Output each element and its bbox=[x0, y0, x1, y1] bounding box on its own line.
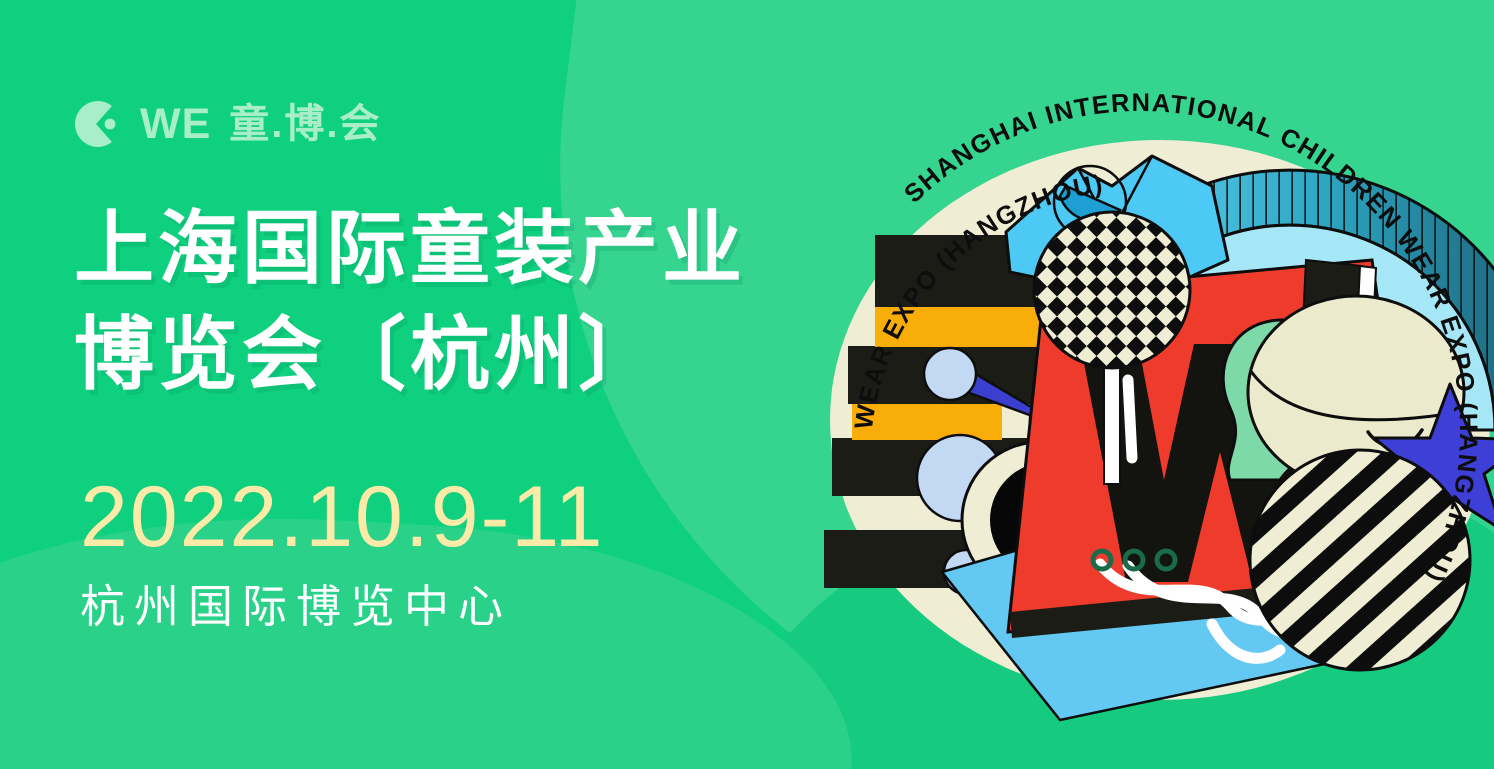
event-date: 2022.10.9-11 bbox=[80, 474, 605, 560]
event-venue: 杭州国际博览中心 bbox=[80, 580, 512, 634]
cwe-pacman-icon bbox=[74, 100, 126, 148]
brand-logo: WE 童.博.会 bbox=[74, 100, 382, 148]
children-wear-collage: SHANGHAI INTERNATIONAL CHILDREN WEAR EXP… bbox=[760, 0, 1494, 769]
logo-chinese: 童.博.会 bbox=[229, 104, 381, 144]
poster-canvas: WE 童.博.会 上海国际童装产业 博览会〔杭州〕 2022.10.9-11 杭… bbox=[0, 0, 1494, 769]
logo-wordmark: WE bbox=[140, 103, 211, 146]
